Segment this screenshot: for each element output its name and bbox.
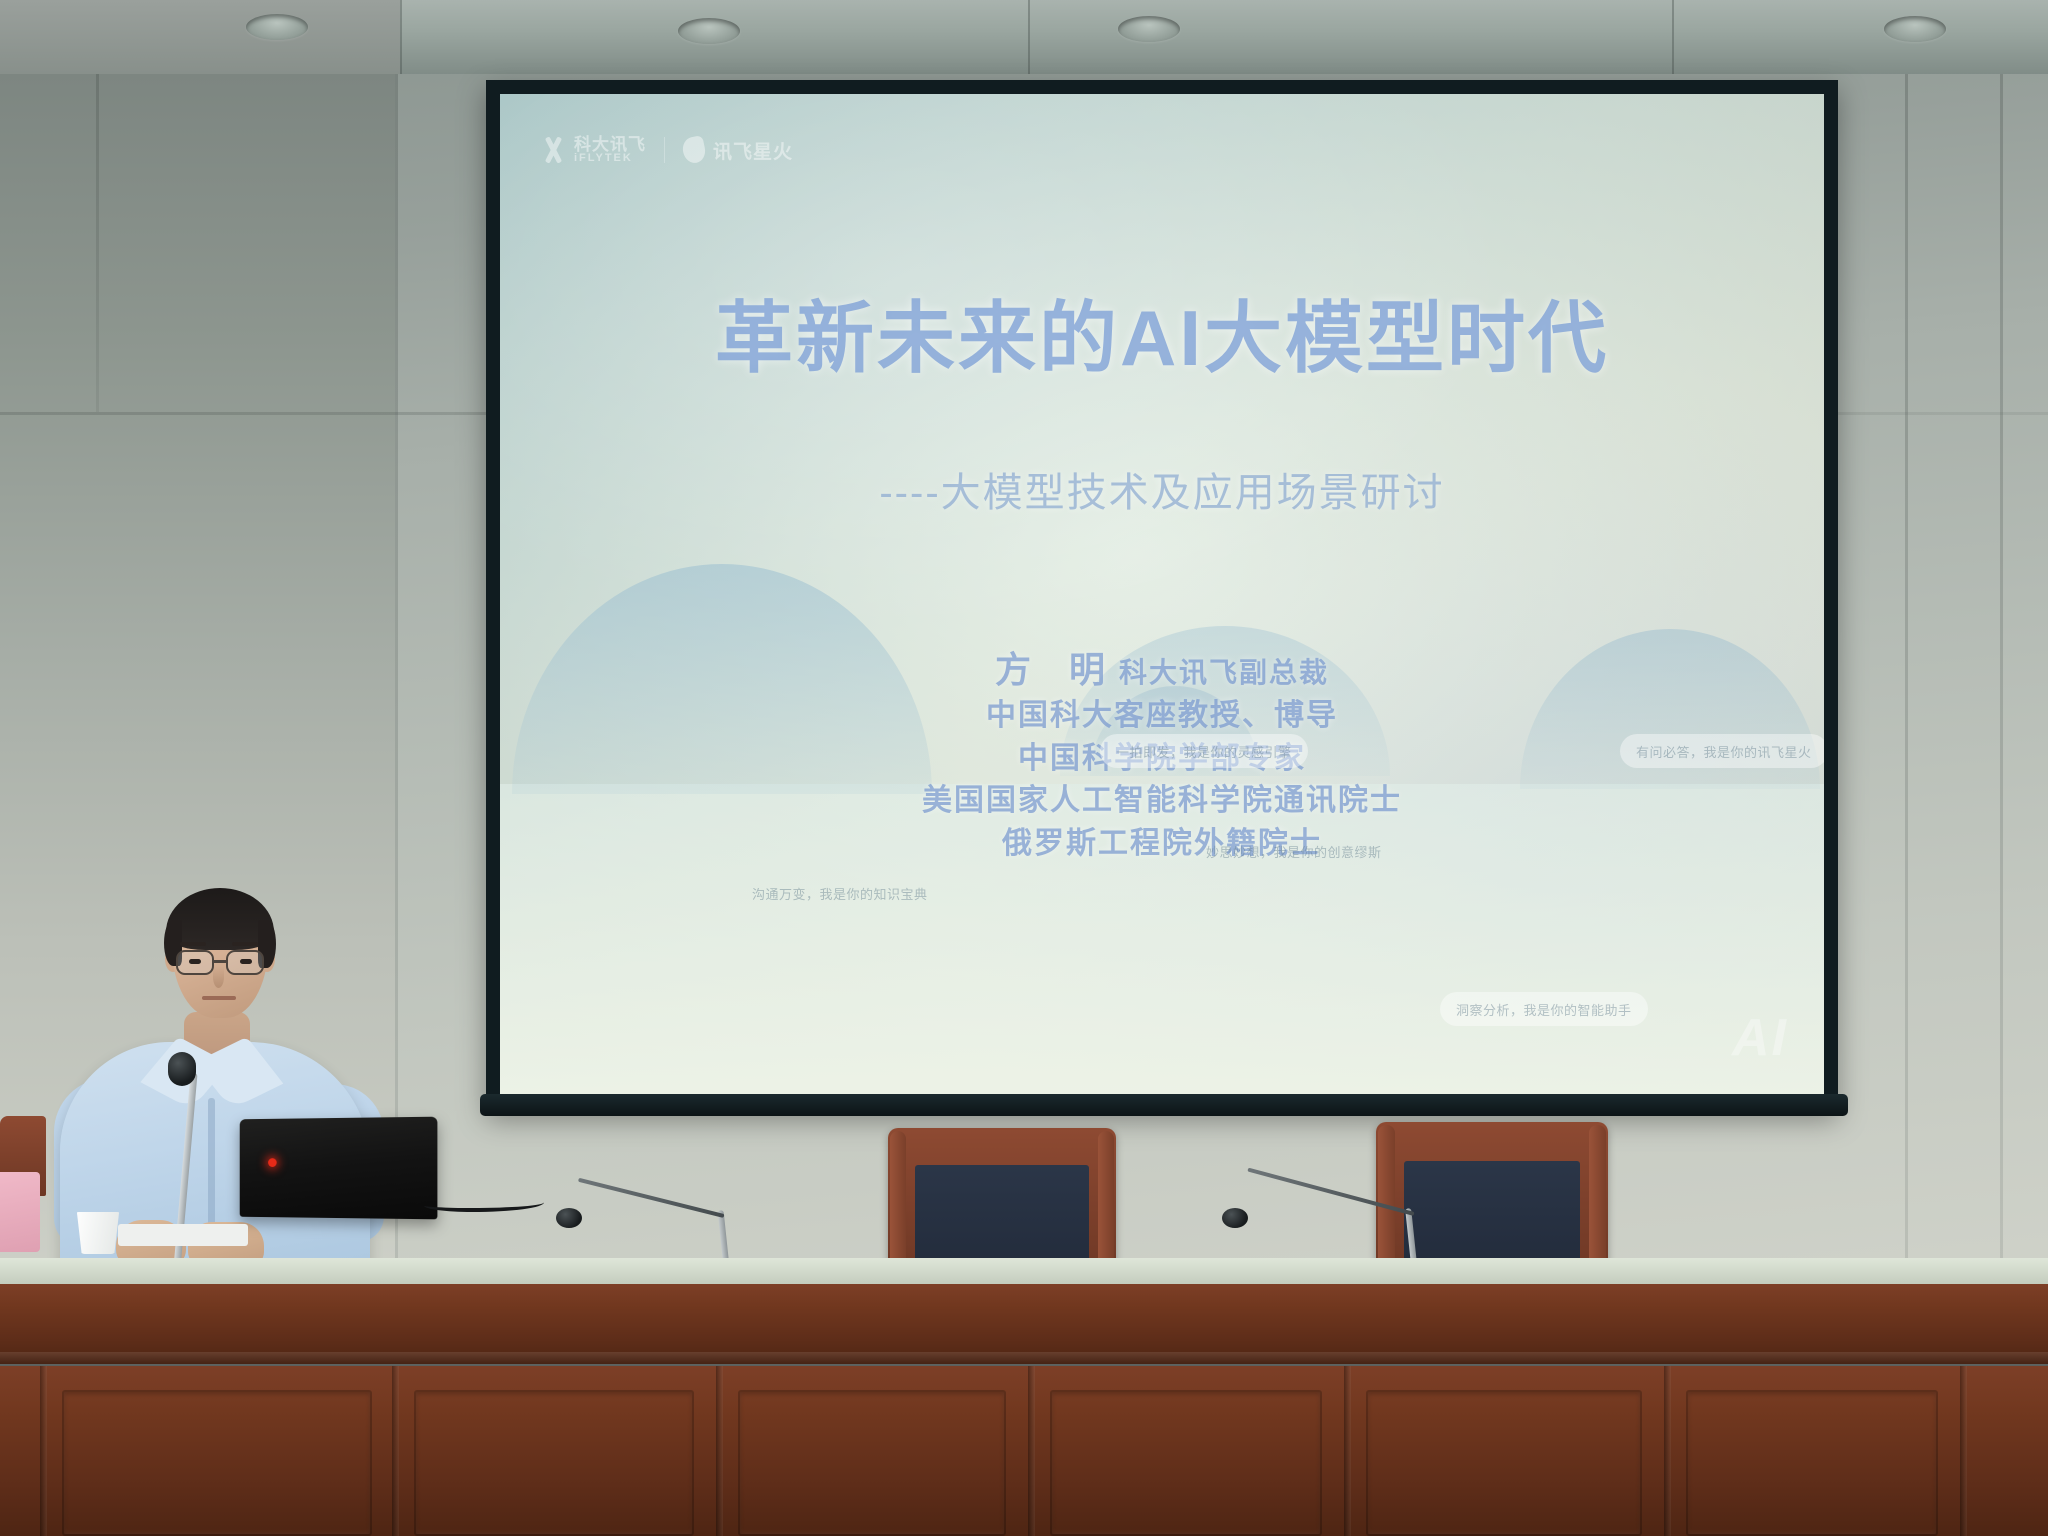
credential-line: 俄罗斯工程院外籍院士: [500, 823, 1824, 866]
table-panel-seam: [1960, 1366, 1967, 1536]
table-surface: [0, 1258, 2048, 1284]
table-panel-seam: [392, 1366, 399, 1536]
iflytek-logo-cn: 科大讯飞: [574, 136, 646, 153]
notepad: [118, 1224, 248, 1246]
wall-seam: [2000, 74, 2003, 1284]
table-panel-seam: [1344, 1366, 1351, 1536]
mic-head-icon: [168, 1052, 196, 1086]
eyeglasses-bridge: [214, 960, 226, 963]
wall-seam: [96, 74, 99, 412]
presenter-eyebrow-left: [180, 942, 206, 946]
table-panel: [1686, 1390, 1938, 1536]
table-panel-seam: [1664, 1366, 1671, 1536]
presenter-eye-left: [189, 959, 201, 964]
ceiling-seam: [1672, 0, 1674, 78]
slide-pill-label: 一拍即发，我是你的灵感引擎: [1100, 734, 1308, 768]
slide-title: 革新未来的AI大模型时代: [500, 276, 1824, 388]
slide-pill-label: 有问必答，我是你的讯飞星火: [1620, 734, 1824, 768]
laptop[interactable]: [240, 1117, 438, 1220]
ceiling-downlight-icon: [246, 14, 308, 40]
ceiling-seam: [1028, 0, 1030, 78]
projection-screen-roller: [480, 1094, 1848, 1116]
presenter-mouth: [202, 996, 236, 1000]
ceiling-left-soffit: [0, 0, 400, 78]
table-panel: [738, 1390, 1006, 1536]
paper-cup: [74, 1212, 122, 1254]
table-panel: [1366, 1390, 1642, 1536]
speaker-role: 科大讯飞副总裁: [1119, 657, 1329, 688]
table-panel-seam: [40, 1366, 47, 1536]
wall-seam: [1905, 74, 1908, 1284]
presenter-eye-right: [240, 959, 252, 964]
table-edge-band: [0, 1352, 2048, 1366]
flame-icon: [681, 135, 708, 165]
spark-logo-text: 讯飞星火: [713, 137, 793, 164]
table-panel-seam: [716, 1366, 723, 1536]
ceiling-downlight-icon: [1884, 16, 1946, 42]
credential-line: 美国国家人工智能科学院通讯院士: [500, 780, 1824, 823]
ai-watermark: AI: [1732, 1008, 1788, 1068]
slide-logo-bar: 科大讯飞 iFLYTEK 讯飞星火: [540, 136, 793, 164]
mic-head-icon: [1222, 1208, 1248, 1228]
iflytek-logo-en: iFLYTEK: [574, 153, 646, 164]
credential-name-row: 方 明科大讯飞副总裁: [500, 644, 1824, 695]
ceiling-downlight-icon: [1118, 16, 1180, 42]
slide-pill-label: 洞察分析，我是你的智能助手: [1440, 992, 1648, 1026]
table-panel: [1050, 1390, 1322, 1536]
slide-subtitle: ----大模型技术及应用场景研讨: [500, 460, 1824, 518]
pink-object: [0, 1172, 40, 1252]
x-mark-icon: [540, 137, 566, 163]
presenter-eyebrow-right: [232, 942, 258, 946]
credential-line: 中国科大客座教授、博导: [500, 695, 1824, 738]
logo-divider: [664, 137, 665, 163]
projection-screen[interactable]: 科大讯飞 iFLYTEK 讯飞星火 革新未来的AI大模型时代 ----大模型技术…: [500, 94, 1824, 1094]
table-panel: [414, 1390, 694, 1536]
table-panel: [62, 1390, 372, 1536]
conference-room-scene: 科大讯飞 iFLYTEK 讯飞星火 革新未来的AI大模型时代 ----大模型技术…: [0, 0, 2048, 1536]
slide-pill-label: 妙思妙想，我是你的创意缪斯: [1190, 834, 1398, 868]
spark-logo: 讯飞星火: [683, 137, 793, 164]
ceiling-seam: [400, 0, 402, 78]
iflytek-logo: 科大讯飞 iFLYTEK: [540, 136, 646, 164]
slide-pill-label: 沟通万变，我是你的知识宝典: [736, 876, 944, 910]
table-panel-seam: [1028, 1366, 1035, 1536]
presenter-nose: [213, 966, 224, 988]
speaker-name: 方 明: [995, 649, 1119, 690]
mic-head-icon: [556, 1208, 582, 1228]
laptop-power-led-icon: [268, 1158, 277, 1167]
ceiling-downlight-icon: [678, 18, 740, 44]
